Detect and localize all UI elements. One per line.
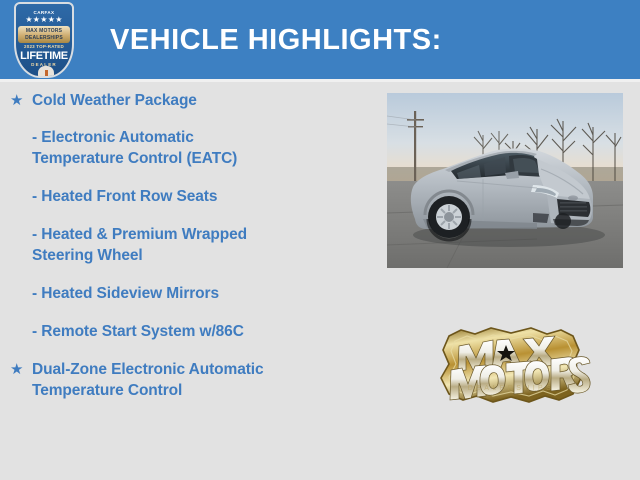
badge-award-year: 2023 TOP-RATED xyxy=(16,44,72,49)
vehicle-photo xyxy=(387,93,623,268)
sub-highlight-label-cont: Steering Wheel xyxy=(32,245,380,266)
highlight-label-cont: Temperature Control xyxy=(32,380,380,401)
list-item: ★ Cold Weather Package xyxy=(0,90,380,111)
sub-highlight-label: - Heated & Premium Wrapped xyxy=(32,224,380,245)
list-item: - Heated Front Row Seats xyxy=(32,186,380,207)
list-item: - Heated Sideview Mirrors xyxy=(32,283,380,304)
sub-highlight-label: - Heated Sideview Mirrors xyxy=(32,283,380,304)
badge-person-tie-icon xyxy=(45,70,48,78)
badge-dealer-name-line2: DEALERSHIPS xyxy=(18,35,70,42)
vehicle-highlights-list: ★ Cold Weather Package - Electronic Auto… xyxy=(0,90,380,417)
star-bullet-icon: ★ xyxy=(10,360,23,379)
badge-award-main: LIFETIME xyxy=(16,50,72,62)
list-item: - Remote Start System w/86C xyxy=(32,321,380,342)
carfax-stars-icon: ★★★★★ xyxy=(16,16,72,24)
header-divider xyxy=(0,79,640,82)
max-motors-logo: DEALERSHIPS xyxy=(431,320,591,420)
list-item: - Heated & Premium Wrapped Steering Whee… xyxy=(32,224,380,266)
slide-root: CARFAX ★★★★★ MAX MOTORS DEALERSHIPS 2023… xyxy=(0,0,640,480)
carfax-lifetime-dealer-badge: CARFAX ★★★★★ MAX MOTORS DEALERSHIPS 2023… xyxy=(14,2,74,80)
badge-shield-shape: CARFAX ★★★★★ MAX MOTORS DEALERSHIPS 2023… xyxy=(14,2,74,78)
sub-highlight-label-cont: Temperature Control (EATC) xyxy=(32,148,380,169)
badge-dealer-ribbon: MAX MOTORS DEALERSHIPS xyxy=(18,26,70,43)
list-item: ★ Dual-Zone Electronic Automatic Tempera… xyxy=(0,359,380,401)
badge-dealer-name-line1: MAX MOTORS xyxy=(18,26,70,35)
dealer-logo-subtext: DEALERSHIPS xyxy=(468,385,554,392)
highlight-label: Cold Weather Package xyxy=(32,90,380,111)
star-bullet-icon: ★ xyxy=(10,91,23,110)
sub-highlight-label: - Electronic Automatic xyxy=(32,127,380,148)
sub-highlight-label: - Remote Start System w/86C xyxy=(32,321,380,342)
sub-highlight-label: - Heated Front Row Seats xyxy=(32,186,380,207)
page-title: VEHICLE HIGHLIGHTS: xyxy=(110,24,442,57)
list-item: - Electronic Automatic Temperature Contr… xyxy=(32,127,380,169)
highlight-label: Dual-Zone Electronic Automatic xyxy=(32,359,380,380)
